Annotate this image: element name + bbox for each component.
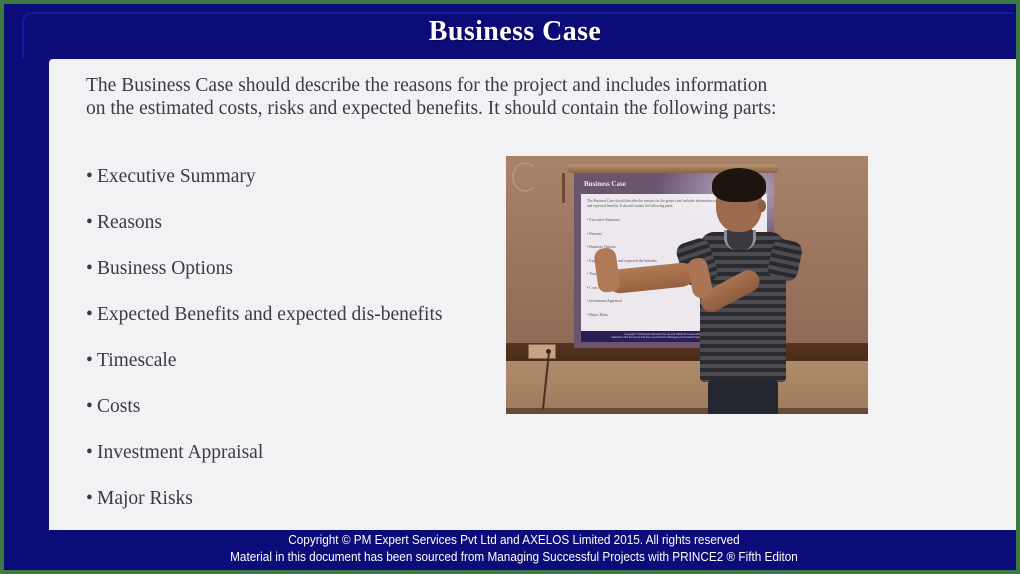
presenter-trousers <box>708 380 778 414</box>
list-item: •Executive Summary <box>86 167 516 187</box>
list-item: •Expected Benefits and expected dis-bene… <box>86 305 516 325</box>
list-item-label: Executive Summary <box>97 166 256 187</box>
bullet-marker-icon: • <box>86 305 97 325</box>
photo-presenter-figure <box>674 162 834 414</box>
bullet-list: •Executive Summary •Reasons •Business Op… <box>86 167 516 535</box>
list-item-label: Major Risks <box>589 313 608 317</box>
list-item-label: Major Risks <box>97 488 193 509</box>
photo-hanging-cord <box>562 173 565 203</box>
bullet-marker-icon: • <box>86 489 97 509</box>
list-item-label: Expected Benefits and expected dis-benef… <box>97 304 442 325</box>
list-item-label: Investment Appraisal <box>97 442 263 463</box>
list-item: •Investment Appraisal <box>86 443 516 463</box>
presenter-collar <box>724 230 756 250</box>
list-item-label: Business Options <box>97 258 233 279</box>
list-item: •Business Options <box>86 259 516 279</box>
bullet-marker-icon: • <box>86 259 97 279</box>
list-item-label: Timescale <box>97 350 176 371</box>
presenter-ear <box>758 200 766 212</box>
photo-wall-ring-object <box>512 162 538 192</box>
list-item-label: Executive Summary <box>589 218 620 222</box>
list-item: •Timescale <box>86 351 516 371</box>
list-item-label: Costs <box>97 396 140 417</box>
list-item: •Costs <box>86 397 516 417</box>
photo-power-socket <box>528 344 556 359</box>
presentation-slide: Business Case The Business Case should d… <box>0 0 1020 574</box>
footer-copyright-line: Copyright © PM Expert Services Pvt Ltd a… <box>38 532 989 549</box>
slide-footer: Copyright © PM Expert Services Pvt Ltd a… <box>8 530 1020 566</box>
bullet-marker-icon: • <box>86 213 97 233</box>
intro-paragraph: The Business Case should describe the re… <box>86 74 786 120</box>
slide-title: Business Case <box>4 16 1016 48</box>
footer-source-line: Material in this document has been sourc… <box>38 549 989 566</box>
bullet-marker-icon: • <box>86 443 97 463</box>
presenter-photo: Business Case The Business Case should d… <box>506 156 868 414</box>
list-item-label: Reasons <box>589 232 602 236</box>
bullet-marker-icon: • <box>86 351 97 371</box>
presenter-hair <box>712 168 766 202</box>
list-item: •Reasons <box>86 213 516 233</box>
projected-slide-title: Business Case <box>584 180 626 188</box>
bullet-marker-icon: • <box>86 167 97 187</box>
slide-content-panel: The Business Case should describe the re… <box>49 59 1020 538</box>
list-item-label: Investment Appraisal <box>589 299 621 303</box>
list-item: •Major Risks <box>86 489 516 509</box>
list-item-label: Costs <box>589 286 597 290</box>
bullet-marker-icon: • <box>86 397 97 417</box>
list-item-label: Reasons <box>97 212 162 233</box>
